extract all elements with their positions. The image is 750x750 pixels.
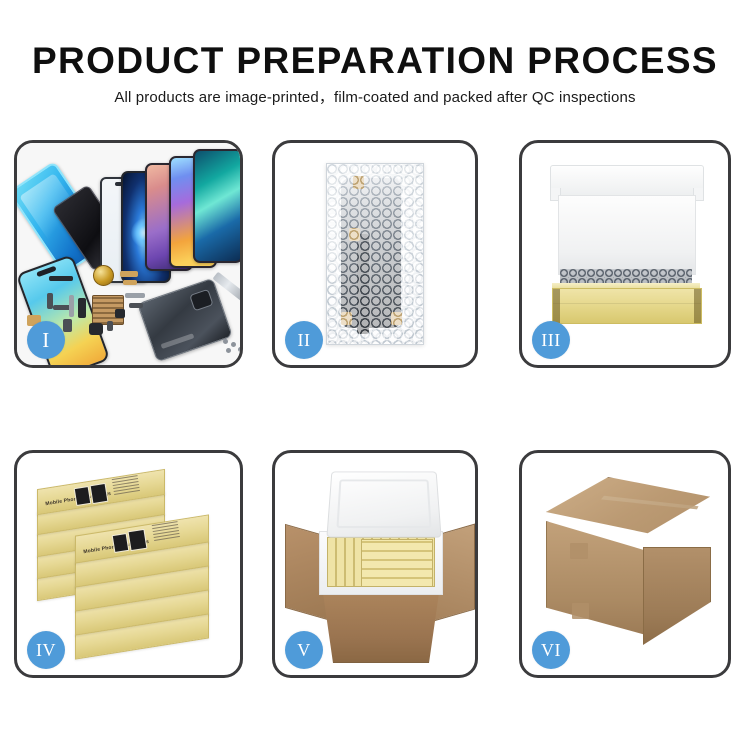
- part-button-module: [115, 309, 125, 318]
- part-sim-tray: [63, 319, 72, 332]
- part-connector-strip: [49, 276, 73, 281]
- bubble-wrap-bag: [326, 163, 424, 345]
- housing-label: [161, 333, 195, 349]
- step-numeral-2: II: [298, 330, 311, 351]
- foam-cooler-lid: [326, 471, 441, 537]
- step-badge-3: III: [532, 321, 570, 359]
- box-corner-left: [553, 289, 560, 323]
- part-speaker-mesh: [78, 298, 86, 318]
- phone-screen-teal: [193, 149, 243, 263]
- step-numeral-4: IV: [36, 640, 56, 661]
- part-flex-gold: [120, 271, 138, 277]
- phone-back-housing: [137, 278, 233, 363]
- box-inner-wall: [558, 195, 696, 275]
- sealed-carton: [540, 477, 716, 645]
- carton-tab-lower: [572, 603, 589, 619]
- step-numeral-1: I: [42, 328, 50, 353]
- box-window-front-2: [128, 529, 148, 551]
- step-badge-2: II: [285, 321, 323, 359]
- step-panel-2[interactable]: II: [272, 140, 478, 368]
- box-window-back-2: [90, 483, 109, 504]
- step-panel-1[interactable]: I: [14, 140, 243, 368]
- step-panel-4[interactable]: Mobile Phone Spare Parts Mobile Phone Sp…: [14, 450, 243, 678]
- part-flex-gold-2: [123, 280, 137, 285]
- part-screw-holder: [107, 321, 113, 331]
- inner-box-open: [542, 165, 710, 333]
- step-panel-6[interactable]: VI: [519, 450, 731, 678]
- bubble-texture-overlay: [327, 164, 423, 344]
- part-antenna-cable: [69, 295, 74, 317]
- carton-front-face: [546, 521, 646, 635]
- step-badge-4: IV: [27, 631, 65, 669]
- packed-boxes-row-2: [361, 539, 433, 587]
- carton-side-face: [643, 547, 711, 645]
- screws-group: [223, 339, 243, 353]
- part-ribbon-cable: [125, 293, 145, 298]
- box-window-back-1: [74, 486, 92, 506]
- step-badge-5: V: [285, 631, 323, 669]
- step-badge-1: I: [27, 321, 65, 359]
- lid-rim: [336, 480, 431, 529]
- step-panel-3[interactable]: III: [519, 140, 731, 368]
- step-panel-5[interactable]: V: [272, 450, 478, 678]
- box-stack: Mobile Phone Spare Parts Mobile Phone Sp…: [31, 471, 213, 657]
- step-numeral-5: V: [297, 640, 311, 661]
- step-numeral-6: VI: [541, 640, 561, 661]
- box-lid: [550, 165, 704, 199]
- step-numeral-3: III: [541, 330, 560, 351]
- camera-module: [189, 289, 213, 312]
- box-front-face: [552, 288, 702, 324]
- shipping-carton-open: [285, 469, 475, 659]
- box-window-front-1: [112, 533, 130, 553]
- box-corner-right: [694, 289, 701, 323]
- carton-tab-upper: [570, 543, 588, 559]
- box-seam: [553, 303, 701, 304]
- process-step-grid: I II: [0, 0, 750, 750]
- part-ribbon-cable-2: [129, 303, 143, 308]
- step-badge-6: VI: [532, 631, 570, 669]
- part-taptic-engine: [89, 323, 103, 335]
- vibration-motor: [93, 265, 114, 286]
